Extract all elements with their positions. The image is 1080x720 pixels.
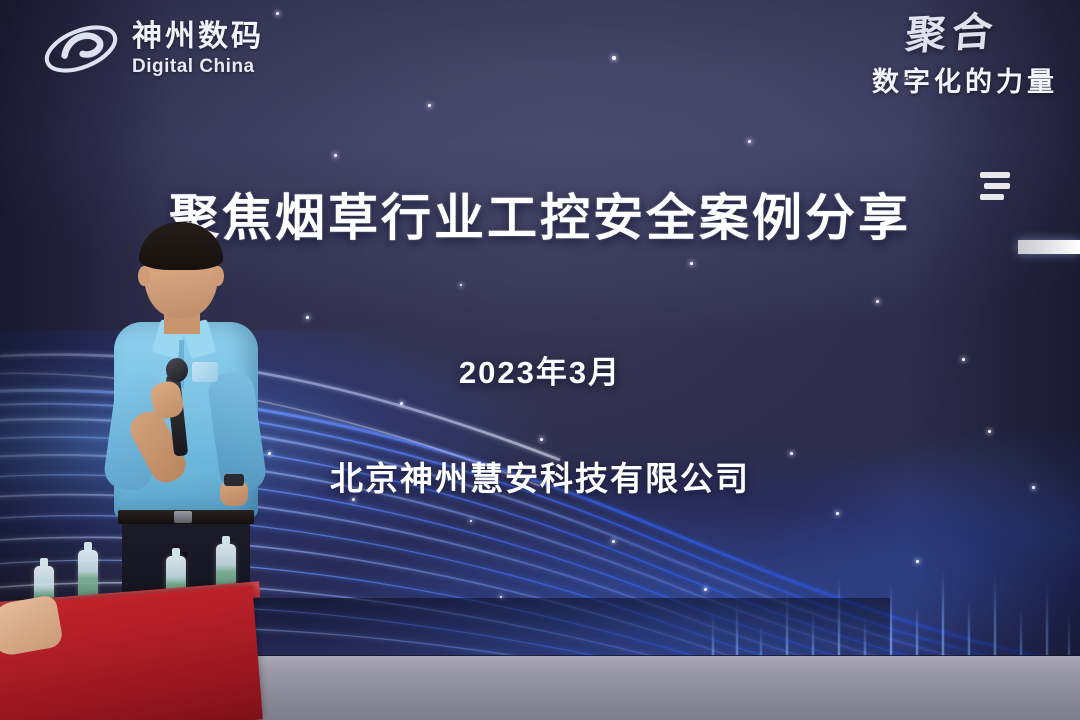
speaker-hair bbox=[139, 222, 223, 270]
speaker-ear-left bbox=[138, 266, 150, 286]
digital-china-swoosh-icon bbox=[40, 16, 122, 82]
event-calligraphy: 聚合 bbox=[904, 12, 1000, 57]
event-logo: 聚合 数字化的力量 bbox=[872, 14, 1058, 99]
event-slogan: 数字化的力量 bbox=[872, 60, 1058, 99]
speaker-ear-right bbox=[212, 266, 224, 286]
speaker-belt-buckle bbox=[174, 511, 192, 523]
digital-china-logo: 神州数码 Digital China bbox=[40, 16, 264, 82]
presentation-clicker bbox=[224, 474, 244, 486]
speaker-chest-logo bbox=[192, 362, 218, 382]
conference-stage-photo: 神州数码 Digital China 聚合 数字化的力量 聚焦烟草行业工控安全案… bbox=[0, 0, 1080, 720]
brand-name-cn: 神州数码 bbox=[132, 22, 264, 52]
brand-name-en: Digital China bbox=[132, 57, 264, 76]
speaker-figure bbox=[96, 222, 280, 622]
